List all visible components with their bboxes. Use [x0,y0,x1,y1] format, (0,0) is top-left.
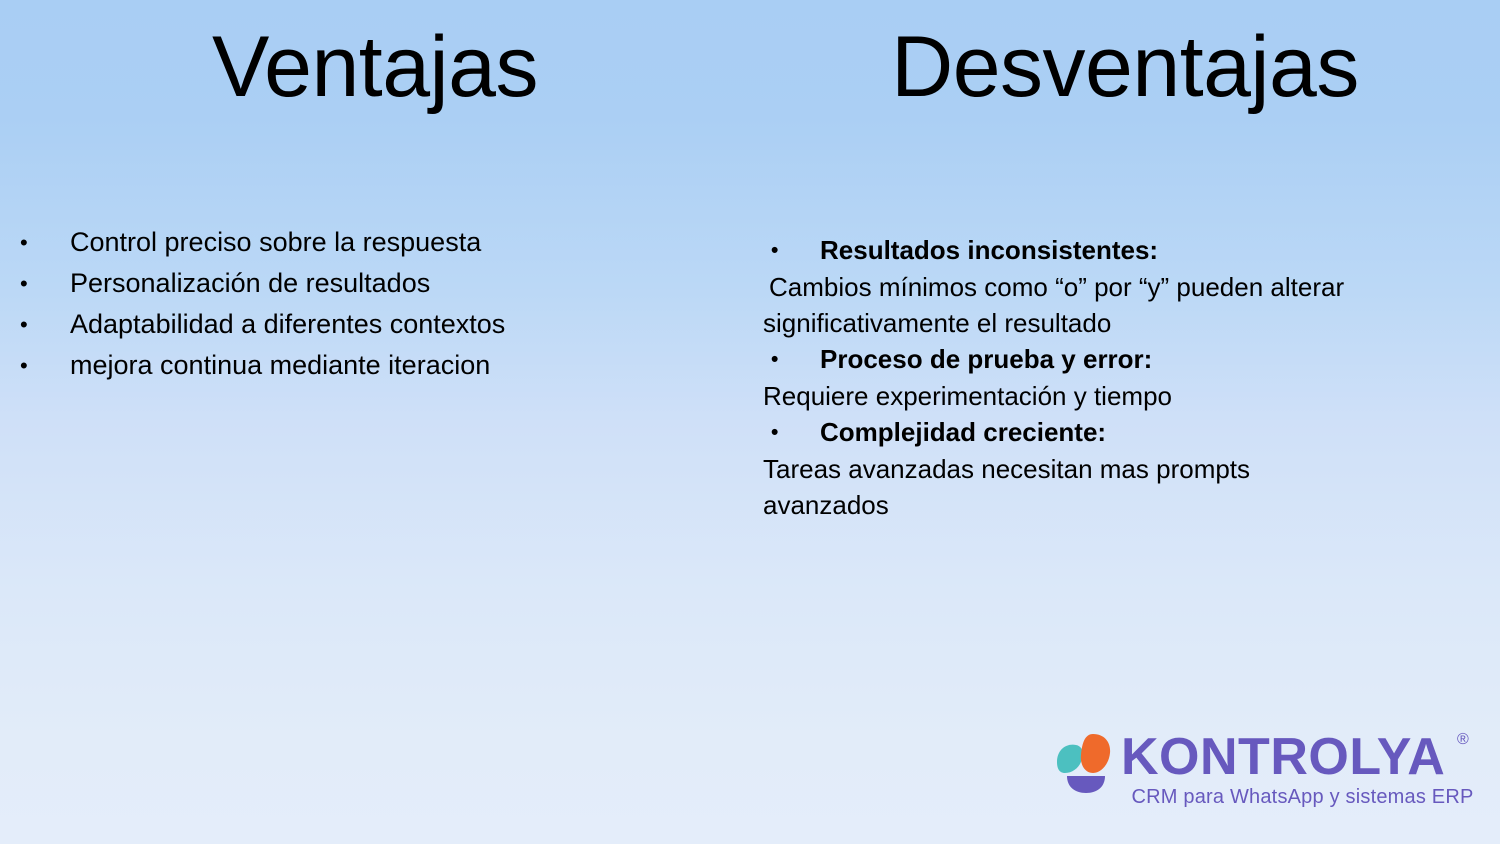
page-title-ventajas: Ventajas [0,24,750,110]
bullet-icon: • [763,414,820,451]
list-item-body-line: Cambios mínimos como “o” por “y” pueden … [763,269,1478,305]
list-item-label: Personalización de resultados [70,263,720,304]
page-title-desventajas: Desventajas [750,24,1500,110]
bullet-icon: • [763,232,820,269]
list-item: • Adaptabilidad a diferentes contextos [0,304,720,345]
bullet-icon: • [0,304,70,345]
kontrolya-mark-icon [1055,732,1113,794]
list-item: • Control preciso sobre la respuesta [0,222,720,263]
list-item: • Personalización de resultados [0,263,720,304]
list-item-heading: • Proceso de prueba y error: [763,341,1478,378]
bullet-icon: • [0,222,70,263]
list-item-label: Adaptabilidad a diferentes contextos [70,304,720,345]
list-item-heading-label: Resultados inconsistentes: [820,232,1478,269]
list-item-body-line: Requiere experimentación y tiempo [763,378,1478,414]
list-item-heading: • Resultados inconsistentes: [763,232,1478,269]
list-item: • mejora continua mediante iteracion [0,345,720,386]
svg-text:KONTROLYA: KONTROLYA [1121,728,1445,786]
slide-canvas: Ventajas Desventajas • Control preciso s… [0,0,1500,844]
list-item-body-line: Tareas avanzadas necesitan mas prompts [763,451,1478,487]
kontrolya-wordmark: KONTROLYA ® [1121,728,1481,786]
bullet-icon: • [0,263,70,304]
list-item-body-line: significativamente el resultado [763,305,1478,341]
list-item-heading-label: Complejidad creciente: [820,414,1478,451]
ventajas-list: • Control preciso sobre la respuesta • P… [0,222,720,386]
list-item-body-line: avanzados [763,487,1478,523]
list-item-label: Control preciso sobre la respuesta [70,222,720,263]
list-item-heading: • Complejidad creciente: [763,414,1478,451]
kontrolya-logo: KONTROLYA ® CRM para WhatsApp y sistemas… [1055,728,1480,820]
list-item-heading-label: Proceso de prueba y error: [820,341,1478,378]
svg-text:®: ® [1457,731,1469,748]
bullet-icon: • [763,341,820,378]
bullet-icon: • [0,345,70,386]
list-item-label: mejora continua mediante iteracion [70,345,720,386]
kontrolya-tagline: CRM para WhatsApp y sistemas ERP [1125,784,1480,810]
desventajas-list: • Resultados inconsistentes: Cambios mín… [763,232,1478,523]
